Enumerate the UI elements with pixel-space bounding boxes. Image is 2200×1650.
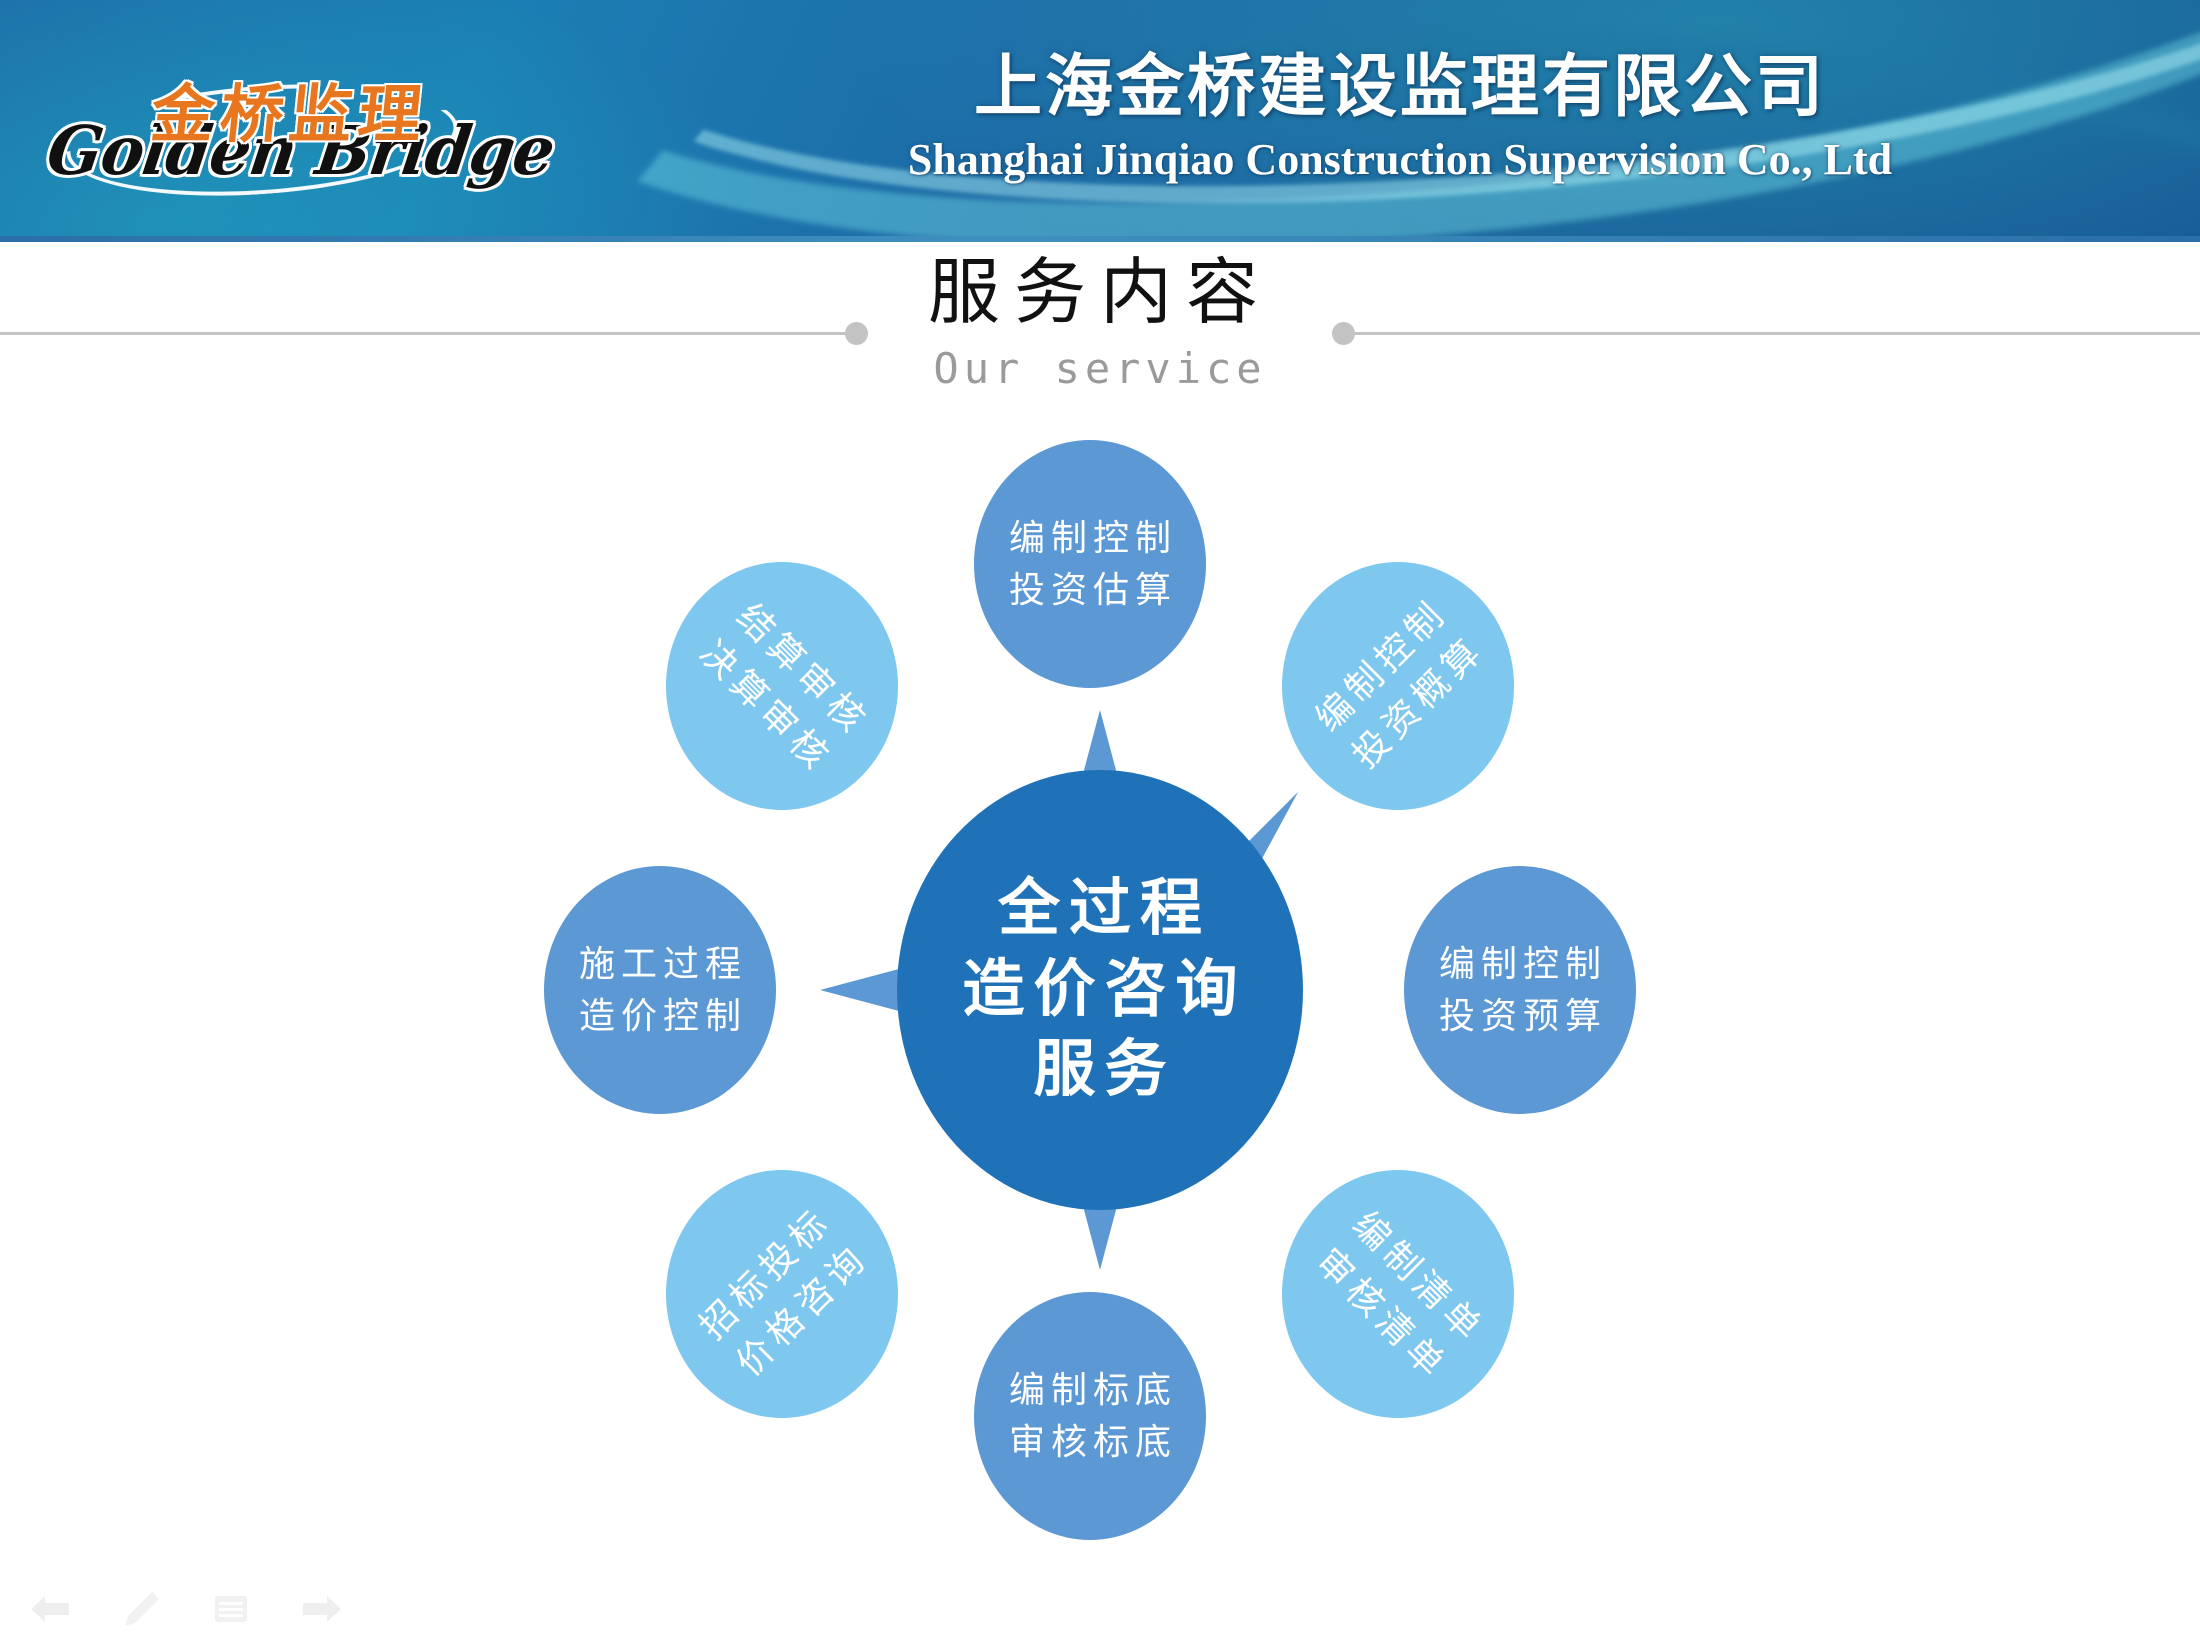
arrow-left-icon[interactable] — [28, 1586, 74, 1632]
slide-navigation-bar — [28, 1586, 344, 1632]
header-bottom-rule — [0, 236, 2200, 242]
service-node-left[interactable]: 施工过程 造价控制 — [544, 866, 776, 1114]
hub-line-2: 造价咨询 — [953, 950, 1246, 1031]
service-node-top-line2: 投资估算 — [1003, 564, 1177, 616]
service-node-bottom[interactable]: 编制标底 审核标底 — [974, 1292, 1206, 1540]
logo-text-cn: 金桥监理 — [147, 64, 433, 155]
company-logo: Golden Bridge 金桥监理 — [40, 36, 460, 196]
service-wheel-diagram: 全过程 造价咨询 服务 编制控制 投资估算 编制控制 投资概算 编制控制 投资预… — [460, 430, 1740, 1550]
menu-icon[interactable] — [208, 1586, 254, 1632]
page-title: 服务内容 — [0, 248, 2200, 338]
slide-header: Golden Bridge 金桥监理 上海金桥建设监理有限公司 Shanghai… — [0, 0, 2200, 242]
service-node-right[interactable]: 编制控制 投资预算 — [1404, 866, 1636, 1114]
hub-line-3: 服务 — [1024, 1030, 1175, 1111]
diagram-hub: 全过程 造价咨询 服务 — [897, 770, 1303, 1210]
company-name-cn: 上海金桥建设监理有限公司 — [700, 48, 2100, 126]
service-node-bottom-line2: 审核标底 — [1003, 1416, 1177, 1468]
hub-line-1: 全过程 — [989, 869, 1211, 950]
service-node-right-line2: 投资预算 — [1433, 990, 1607, 1042]
service-node-bottom-right[interactable]: 编制清单 审核清单 — [1282, 1170, 1514, 1418]
pen-icon[interactable] — [118, 1586, 164, 1632]
service-node-bottom-line1: 编制标底 — [1003, 1364, 1177, 1416]
service-node-top-line1: 编制控制 — [1003, 512, 1177, 564]
service-node-top[interactable]: 编制控制 投资估算 — [974, 440, 1206, 688]
service-node-left-line1: 施工过程 — [573, 938, 747, 990]
section-title-block: 服务内容 Our service — [0, 248, 2200, 408]
service-node-right-line1: 编制控制 — [1433, 938, 1607, 990]
arrow-right-icon[interactable] — [298, 1586, 344, 1632]
page-subtitle: Our service — [0, 344, 2200, 393]
service-node-bottom-left[interactable]: 招标投标 价格咨询 — [666, 1170, 898, 1418]
service-node-top-left[interactable]: 结算审核 决算审核 — [666, 562, 898, 810]
company-title-block: 上海金桥建设监理有限公司 Shanghai Jinqiao Constructi… — [700, 48, 2100, 185]
company-name-en: Shanghai Jinqiao Construction Supervisio… — [700, 134, 2100, 185]
service-node-top-right[interactable]: 编制控制 投资概算 — [1282, 562, 1514, 810]
service-node-left-line2: 造价控制 — [573, 990, 747, 1042]
